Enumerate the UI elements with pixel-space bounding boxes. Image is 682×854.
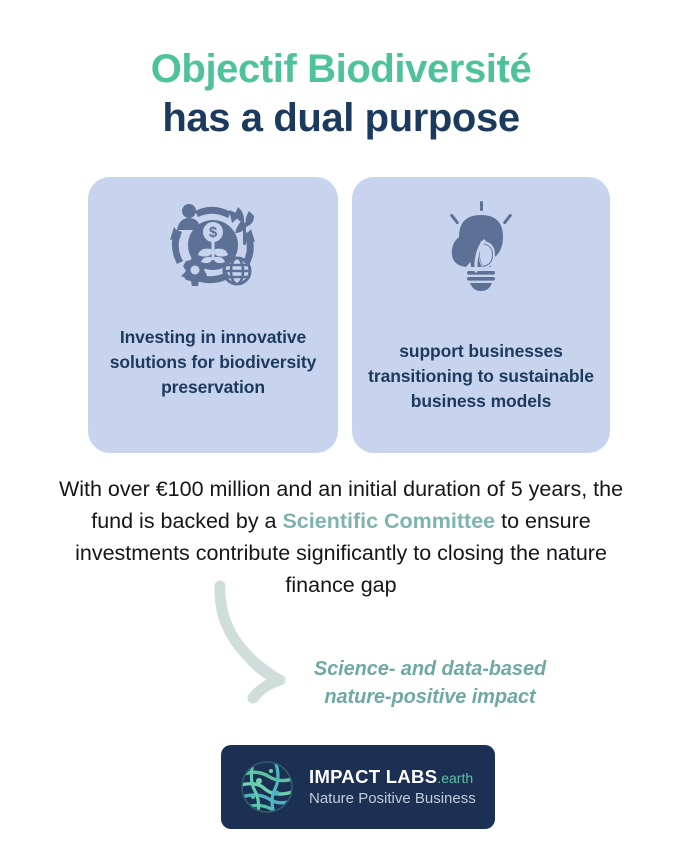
impact-tagline: Science- and data-based nature-positive … <box>270 655 590 712</box>
logo-tagline: Nature Positive Business <box>309 789 476 809</box>
logo-wordmark: IMPACT LABS.earth Nature Positive Busine… <box>309 766 476 809</box>
investment-cycle-icon: $ <box>161 199 265 295</box>
scientific-committee-highlight: Scientific Committee <box>282 509 495 533</box>
poster-canvas: Objectif Biodiversité has a dual purpose <box>0 0 682 854</box>
svg-text:$: $ <box>209 224 218 241</box>
logo-name-suffix: .earth <box>437 770 473 786</box>
purpose-card-label: Investing in innovative solutions for bi… <box>88 325 338 400</box>
globe-sphere-icon <box>239 759 295 815</box>
purpose-card-investing: $ Investing in innovative solutions for … <box>88 177 338 453</box>
page-title: Objectif Biodiversité has a dual purpose <box>0 47 682 141</box>
logo-name-main: IMPACT LABS <box>309 766 437 787</box>
logo-name: IMPACT LABS.earth <box>309 766 476 787</box>
description-paragraph: With over €100 million and an initial du… <box>55 473 627 601</box>
impact-labs-logo[interactable]: IMPACT LABS.earth Nature Positive Busine… <box>221 745 495 829</box>
tagline-line-1: Science- and data-based <box>270 655 590 683</box>
purpose-card-businesses: support businesses transitioning to sust… <box>352 177 610 453</box>
purpose-cards: $ Investing in innovative solutions for … <box>88 177 610 453</box>
headline-line-1: Objectif Biodiversité <box>0 47 682 92</box>
purpose-card-label: support businesses transitioning to sust… <box>352 339 610 414</box>
tagline-line-2: nature-positive impact <box>270 683 590 711</box>
headline-line-2: has a dual purpose <box>0 96 682 141</box>
lightbulb-leaf-icon <box>429 199 533 295</box>
